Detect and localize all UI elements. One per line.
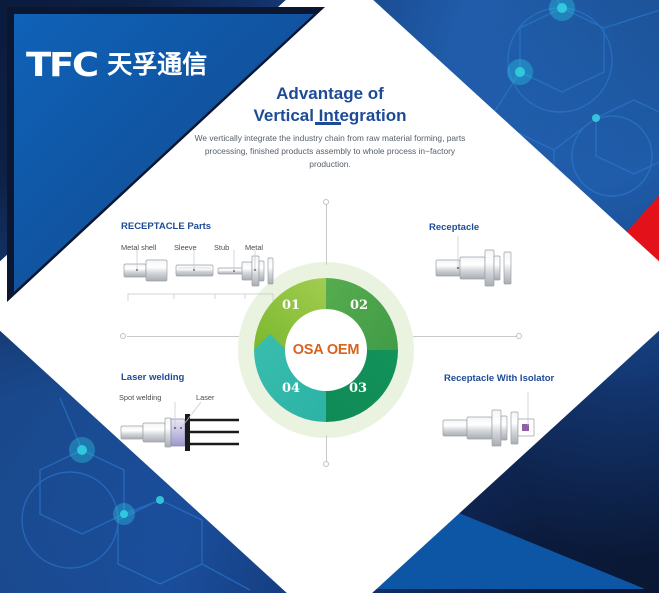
section-title-receptacle-with-isolator: Receptacle With Isolator [444, 373, 554, 384]
segment-number-03: 03 [349, 381, 367, 396]
segment-number-04: 04 [282, 381, 300, 396]
receptacle-parts-drawing [118, 250, 286, 307]
logo-mark: TFC [26, 48, 97, 81]
section-title-laser-welding: Laser welding [121, 372, 184, 383]
part-label-laser: Laser [196, 393, 215, 402]
logo-chinese-name: 天孚通信 [107, 52, 207, 77]
connector-line-top [326, 203, 327, 265]
section-title-receptacle: Receptacle [429, 222, 479, 233]
title-divider [315, 122, 341, 125]
laser-welding-drawing [115, 402, 250, 465]
connector-line-right [413, 336, 517, 337]
page-title-line1: Advantage of [205, 83, 455, 105]
page-title: Advantage of Vertical Integration [205, 83, 455, 127]
company-logo: TFC 天孚通信 [26, 48, 207, 81]
connector-line-bottom [326, 435, 327, 463]
receptacle-drawing [428, 234, 538, 295]
connector-dot-top [323, 199, 329, 205]
connector-dot-right [516, 333, 522, 339]
part-label-spot-welding: Spot welding [119, 393, 161, 402]
connector-line-left [127, 336, 239, 337]
connector-dot-bottom [323, 461, 329, 467]
slide-root: TFC 天孚通信 Advantage of Vertical Integrati… [0, 0, 659, 593]
donut-center-label: OSA OEM [293, 342, 360, 358]
connector-dot-left [120, 333, 126, 339]
page-description: We vertically integrate the industry cha… [190, 132, 470, 171]
section-title-receptacle-parts: RECEPTACLE Parts [121, 221, 211, 232]
receptacle-with-isolator-drawing [435, 388, 555, 455]
segment-number-02: 02 [350, 298, 368, 313]
